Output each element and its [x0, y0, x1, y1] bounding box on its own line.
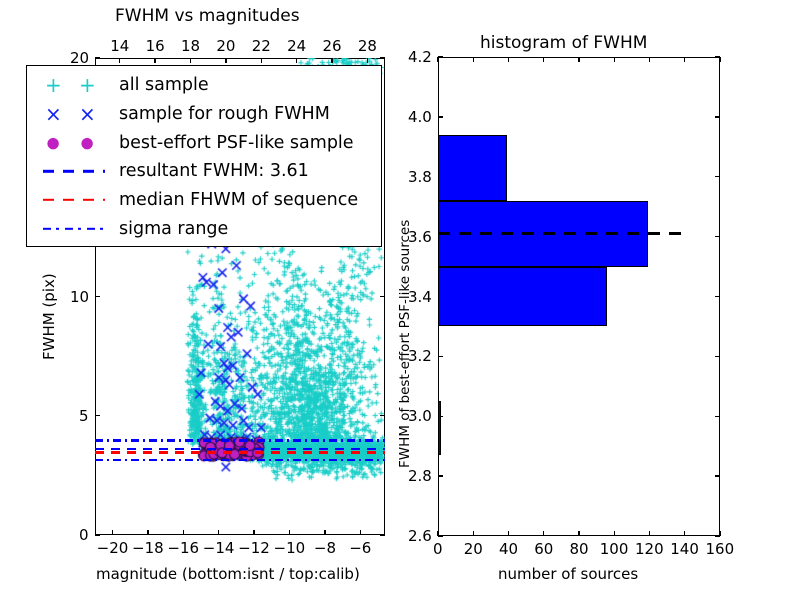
- hist-xtick: [649, 531, 650, 536]
- hist-ytick-right: [715, 236, 720, 237]
- xtick-top: [367, 58, 368, 63]
- hist-xtick: [614, 531, 615, 536]
- xtick-top: [190, 58, 191, 63]
- xtick-bottom-label: −16: [167, 539, 199, 557]
- histogram-bar: [438, 135, 507, 201]
- cross-icon: ×: [45, 104, 61, 124]
- hist-xtick-top: [473, 57, 474, 62]
- hist-xtick-label: 20: [464, 540, 483, 558]
- xtick-top: [154, 58, 155, 63]
- ytick: [95, 296, 100, 297]
- xtick-bottom-label: −10: [274, 539, 306, 557]
- legend-item-label: median FHWM of sequence: [119, 190, 358, 210]
- hist-ytick-right: [715, 475, 720, 476]
- legend-item-3: resultant FWHM: 3.61: [27, 157, 381, 186]
- hist-xtick: [473, 531, 474, 536]
- ytick-right: [380, 57, 385, 58]
- ytick-right: [380, 534, 385, 535]
- ytick-label: 0: [79, 526, 89, 544]
- xtick-top: [331, 58, 332, 63]
- hist-ytick: [438, 356, 443, 357]
- hist-ytick-right: [715, 176, 720, 177]
- xtick-bottom: [324, 530, 325, 535]
- xtick-top-label: 14: [110, 37, 129, 55]
- xtick-bottom: [360, 530, 361, 535]
- hist-xtick-top: [543, 57, 544, 62]
- legend-item-label: resultant FWHM: 3.61: [119, 161, 309, 181]
- right-yaxis-title: FWHM of best-effort PSF-like sources: [397, 220, 413, 468]
- xtick-bottom-label: −20: [97, 539, 129, 557]
- hist-xtick: [684, 531, 685, 536]
- refline-median-fhwm-of-sequence: [95, 451, 385, 454]
- legend-item-label: sample for rough FWHM: [119, 104, 330, 124]
- hist-ytick: [438, 56, 443, 57]
- hist-xtick-top: [614, 57, 615, 62]
- ytick-right: [380, 415, 385, 416]
- hist-xtick-label: 120: [635, 540, 664, 558]
- hist-ytick-right: [715, 116, 720, 117]
- hist-ytick-label: 4.2: [408, 48, 432, 66]
- hist-ytick-label: 2.6: [408, 527, 432, 545]
- left-yaxis-title: FWHM (pix): [40, 273, 58, 360]
- xtick-top-label: 26: [322, 37, 341, 55]
- hist-ytick-right: [715, 296, 720, 297]
- legend-item-2: ●●best-effort PSF-like sample: [27, 128, 381, 157]
- hist-xtick-label: 80: [570, 540, 589, 558]
- xtick-bottom: [253, 530, 254, 535]
- histogram-bar: [438, 401, 441, 455]
- xtick-top-label: 16: [146, 37, 165, 55]
- hist-ytick: [438, 535, 443, 536]
- legend-item-5: sigma range: [27, 214, 381, 243]
- refline-sigma-range-lower: [95, 459, 385, 462]
- hist-ytick: [438, 475, 443, 476]
- xtick-bottom-label: −8: [314, 539, 336, 557]
- hist-xtick: [508, 531, 509, 536]
- xtick-bottom-label: −18: [132, 539, 164, 557]
- hist-xtick-top: [719, 57, 720, 62]
- refline-sigma-range-upper: [95, 439, 385, 442]
- hist-xtick: [578, 531, 579, 536]
- hist-ytick: [438, 116, 443, 117]
- hist-xtick-label: 160: [706, 540, 735, 558]
- plus-icon: +: [79, 75, 95, 95]
- hist-ytick-right: [715, 356, 720, 357]
- xtick-bottom-label: −12: [238, 539, 270, 557]
- right-xaxis-title: number of sources: [498, 565, 638, 583]
- ytick-label: 10: [70, 288, 89, 306]
- legend-item-label: best-effort PSF-like sample: [119, 133, 354, 153]
- cross-icon: ×: [79, 104, 95, 124]
- xtick-top: [119, 58, 120, 63]
- left-xaxis-title: magnitude (bottom:isnt / top:calib): [96, 565, 360, 583]
- xtick-top: [261, 58, 262, 63]
- left-plot-title: FWHM vs magnitudes: [115, 6, 300, 26]
- histogram-median-line: [438, 232, 690, 235]
- legend-item-label: sigma range: [119, 219, 228, 239]
- legend-item-0: ++all sample: [27, 71, 381, 100]
- xtick-bottom: [183, 530, 184, 535]
- hist-xtick-top: [437, 57, 438, 62]
- xtick-bottom-label: −14: [203, 539, 235, 557]
- hist-xtick-label: 100: [600, 540, 629, 558]
- legend-item-4: median FHWM of sequence: [27, 186, 381, 215]
- figure-canvas: FWHM vs magnitudes −20−18−16−14−12−10−8−…: [0, 0, 800, 600]
- hist-ytick-right: [715, 416, 720, 417]
- hist-xtick-label: 60: [534, 540, 553, 558]
- hist-ytick-label: 2.8: [408, 467, 432, 485]
- filled-circle-icon: ●: [45, 135, 61, 150]
- xtick-top: [296, 58, 297, 63]
- dashed-line-icon: [43, 170, 105, 172]
- ytick: [95, 415, 100, 416]
- xtick-bottom: [218, 530, 219, 535]
- xtick-top-label: 24: [287, 37, 306, 55]
- ytick: [95, 534, 100, 535]
- hist-ytick-label: 3.8: [408, 168, 432, 186]
- xtick-top: [225, 58, 226, 63]
- xtick-bottom-label: −6: [349, 539, 371, 557]
- xtick-top-label: 18: [181, 37, 200, 55]
- ytick-right: [380, 296, 385, 297]
- hist-ytick-right: [715, 535, 720, 536]
- histogram-bar: [438, 267, 607, 327]
- xtick-bottom: [147, 530, 148, 535]
- hist-ytick-right: [715, 56, 720, 57]
- ytick-label: 5: [79, 407, 89, 425]
- hist-xtick-label: 0: [433, 540, 443, 558]
- filled-circle-icon: ●: [79, 135, 95, 150]
- xtick-top-label: 20: [216, 37, 235, 55]
- right-plot-title: histogram of FWHM: [480, 33, 647, 53]
- dashed-line-icon: [43, 199, 105, 201]
- dashdot-line-icon: [43, 227, 105, 229]
- xtick-top-label: 28: [358, 37, 377, 55]
- legend-box: ++all sample××sample for rough FWHM●●bes…: [26, 65, 382, 247]
- hist-xtick-label: 140: [670, 540, 699, 558]
- hist-xtick: [543, 531, 544, 536]
- legend-item-label: all sample: [119, 75, 209, 95]
- refline-resultant-fwhm: [95, 448, 385, 451]
- xtick-bottom: [112, 530, 113, 535]
- hist-xtick-top: [508, 57, 509, 62]
- legend-item-1: ××sample for rough FWHM: [27, 100, 381, 129]
- ytick: [95, 57, 100, 58]
- hist-xtick-top: [578, 57, 579, 62]
- hist-xtick-top: [649, 57, 650, 62]
- xtick-top-label: 22: [252, 37, 271, 55]
- hist-ytick-label: 4.0: [408, 108, 432, 126]
- hist-xtick-top: [684, 57, 685, 62]
- xtick-bottom: [289, 530, 290, 535]
- plus-icon: +: [45, 75, 61, 95]
- hist-xtick-label: 40: [499, 540, 518, 558]
